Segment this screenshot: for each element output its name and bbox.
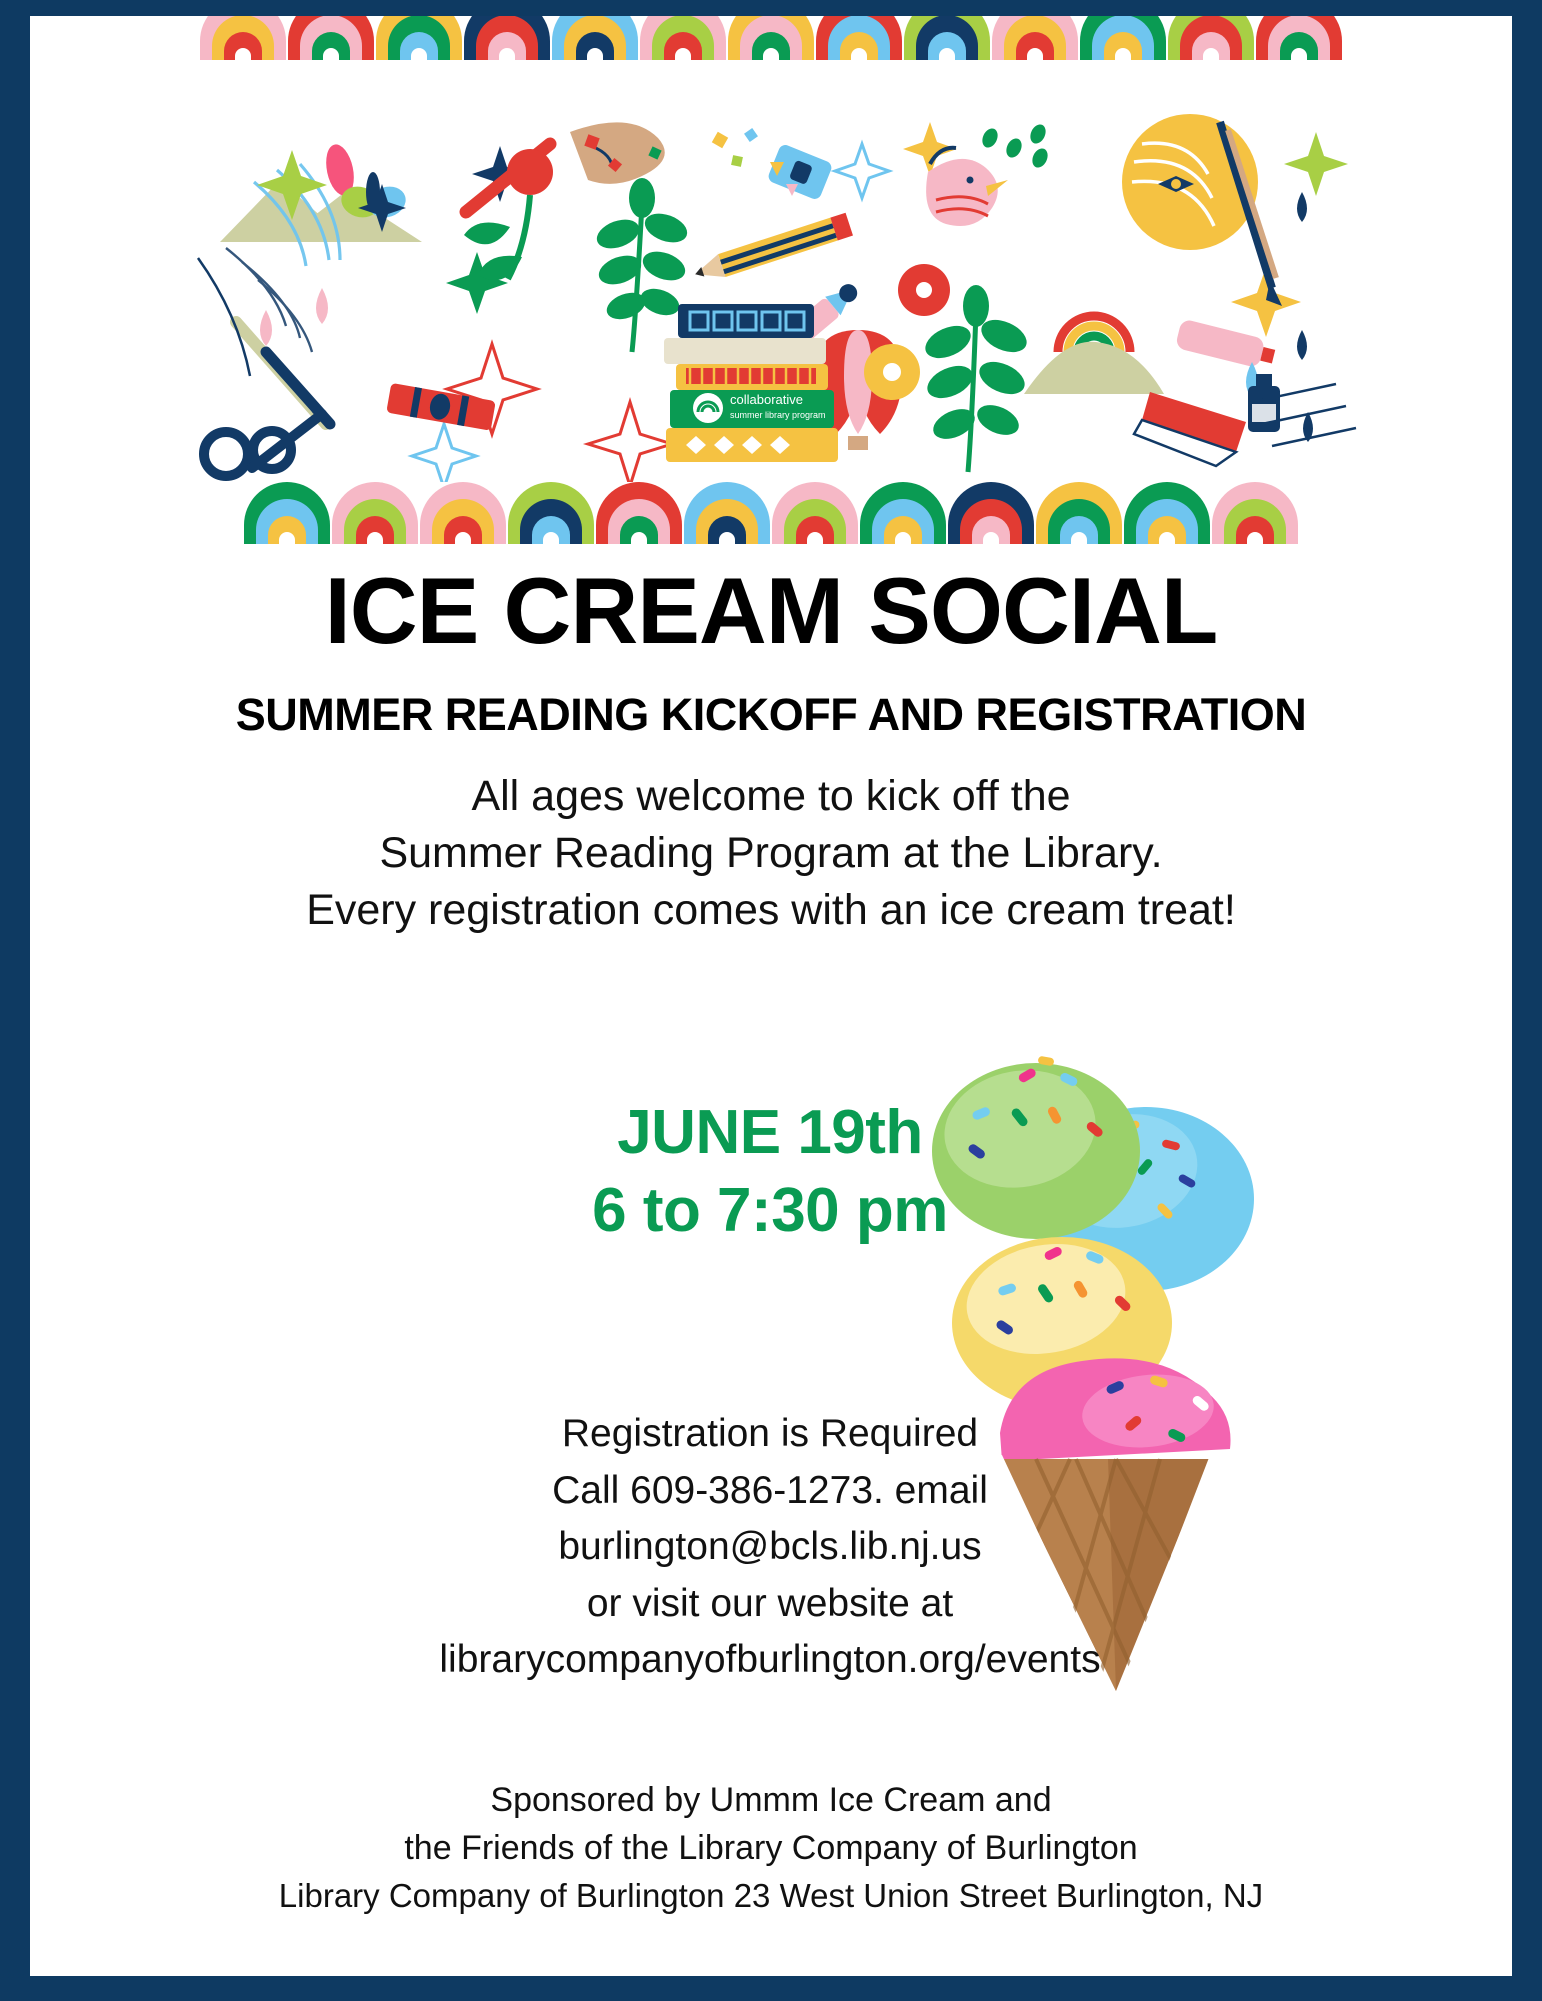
rainbow-arch: [508, 482, 594, 544]
arch-band: [279, 532, 295, 544]
registration-email: burlington@bcls.lib.nj.us: [290, 1519, 1250, 1576]
arch-band: [543, 532, 559, 544]
scoop-green: [932, 1056, 1140, 1239]
rainbow-arch: [772, 482, 858, 544]
rainbow-arch: [332, 482, 418, 544]
arch-band: [455, 532, 471, 544]
sparkle-icon: [1284, 132, 1348, 196]
bird-icon: [926, 148, 1008, 226]
intro-line-3: Every registration comes with an ice cre…: [30, 882, 1512, 939]
rainbow-arch: [860, 482, 946, 544]
paint-roller-icon: [1134, 384, 1356, 466]
sponsor-line-2: the Friends of the Library Company of Bu…: [30, 1824, 1512, 1872]
book-stack-icon: collaborative summer library program: [664, 304, 838, 462]
droplet-icon: [1297, 192, 1307, 222]
arch-band: [719, 532, 735, 544]
rainbow-arch: [1212, 482, 1298, 544]
rainbow-arch: [1124, 482, 1210, 544]
arch-band: [1071, 532, 1087, 544]
crayon-icon: [386, 383, 496, 431]
page-title: ICE CREAM SOCIAL: [30, 564, 1512, 658]
registration-line-1: Registration is Required: [290, 1406, 1250, 1463]
leaf-branch-icon: [593, 178, 691, 352]
registration-website[interactable]: librarycompanyofburlington.org/events: [290, 1632, 1250, 1689]
sponsor-line-1: Sponsored by Ummm Ice Cream and: [30, 1776, 1512, 1824]
book-label-line2: summer library program: [730, 410, 826, 420]
intro-line-1: All ages welcome to kick off the: [30, 768, 1512, 825]
intro-line-2: Summer Reading Program at the Library.: [30, 825, 1512, 882]
registration-line-4: or visit our website at: [290, 1576, 1250, 1633]
rainbow-mound-icon: [1024, 316, 1164, 394]
arch-band: [895, 532, 911, 544]
arch-band: [367, 532, 383, 544]
color-our-world-hero-illustration: collaborative summer library program: [30, 52, 1512, 482]
dots-icon: [979, 122, 1050, 170]
book-label-line1: collaborative: [730, 392, 803, 407]
rainbow-arch: [948, 482, 1034, 544]
arch-band: [983, 532, 999, 544]
rainbow-arch: [1036, 482, 1122, 544]
arch-band: [807, 532, 823, 544]
registration-phone: Call 609-386-1273. email: [290, 1463, 1250, 1520]
arch-band: [631, 532, 647, 544]
arch-band: [1247, 532, 1263, 544]
droplet-icon: [1297, 330, 1307, 360]
registration-info: Registration is Required Call 609-386-12…: [290, 1406, 1250, 1689]
leaf-branch-right-icon: [920, 285, 1031, 472]
library-address: Library Company of Burlington 23 West Un…: [30, 1873, 1512, 1920]
scissors-icon: [204, 322, 330, 476]
rainbow-arch-row-bottom: [30, 482, 1512, 544]
intro-paragraph: All ages welcome to kick off the Summer …: [30, 768, 1512, 940]
poster-canvas: collaborative summer library program: [30, 16, 1512, 1976]
sponsor-footer: Sponsored by Ummm Ice Cream and the Frie…: [30, 1776, 1512, 1919]
page-subtitle: SUMMER READING KICKOFF AND REGISTRATION: [30, 692, 1512, 737]
rainbow-arch: [596, 482, 682, 544]
rainbow-arch: [420, 482, 506, 544]
rainbow-arch: [684, 482, 770, 544]
pencil-icon: [691, 213, 852, 286]
arch-band: [1159, 532, 1175, 544]
paint-tube-icon: [1175, 318, 1277, 371]
speed-lines-icon: [198, 258, 250, 376]
rainbow-arch: [244, 482, 330, 544]
